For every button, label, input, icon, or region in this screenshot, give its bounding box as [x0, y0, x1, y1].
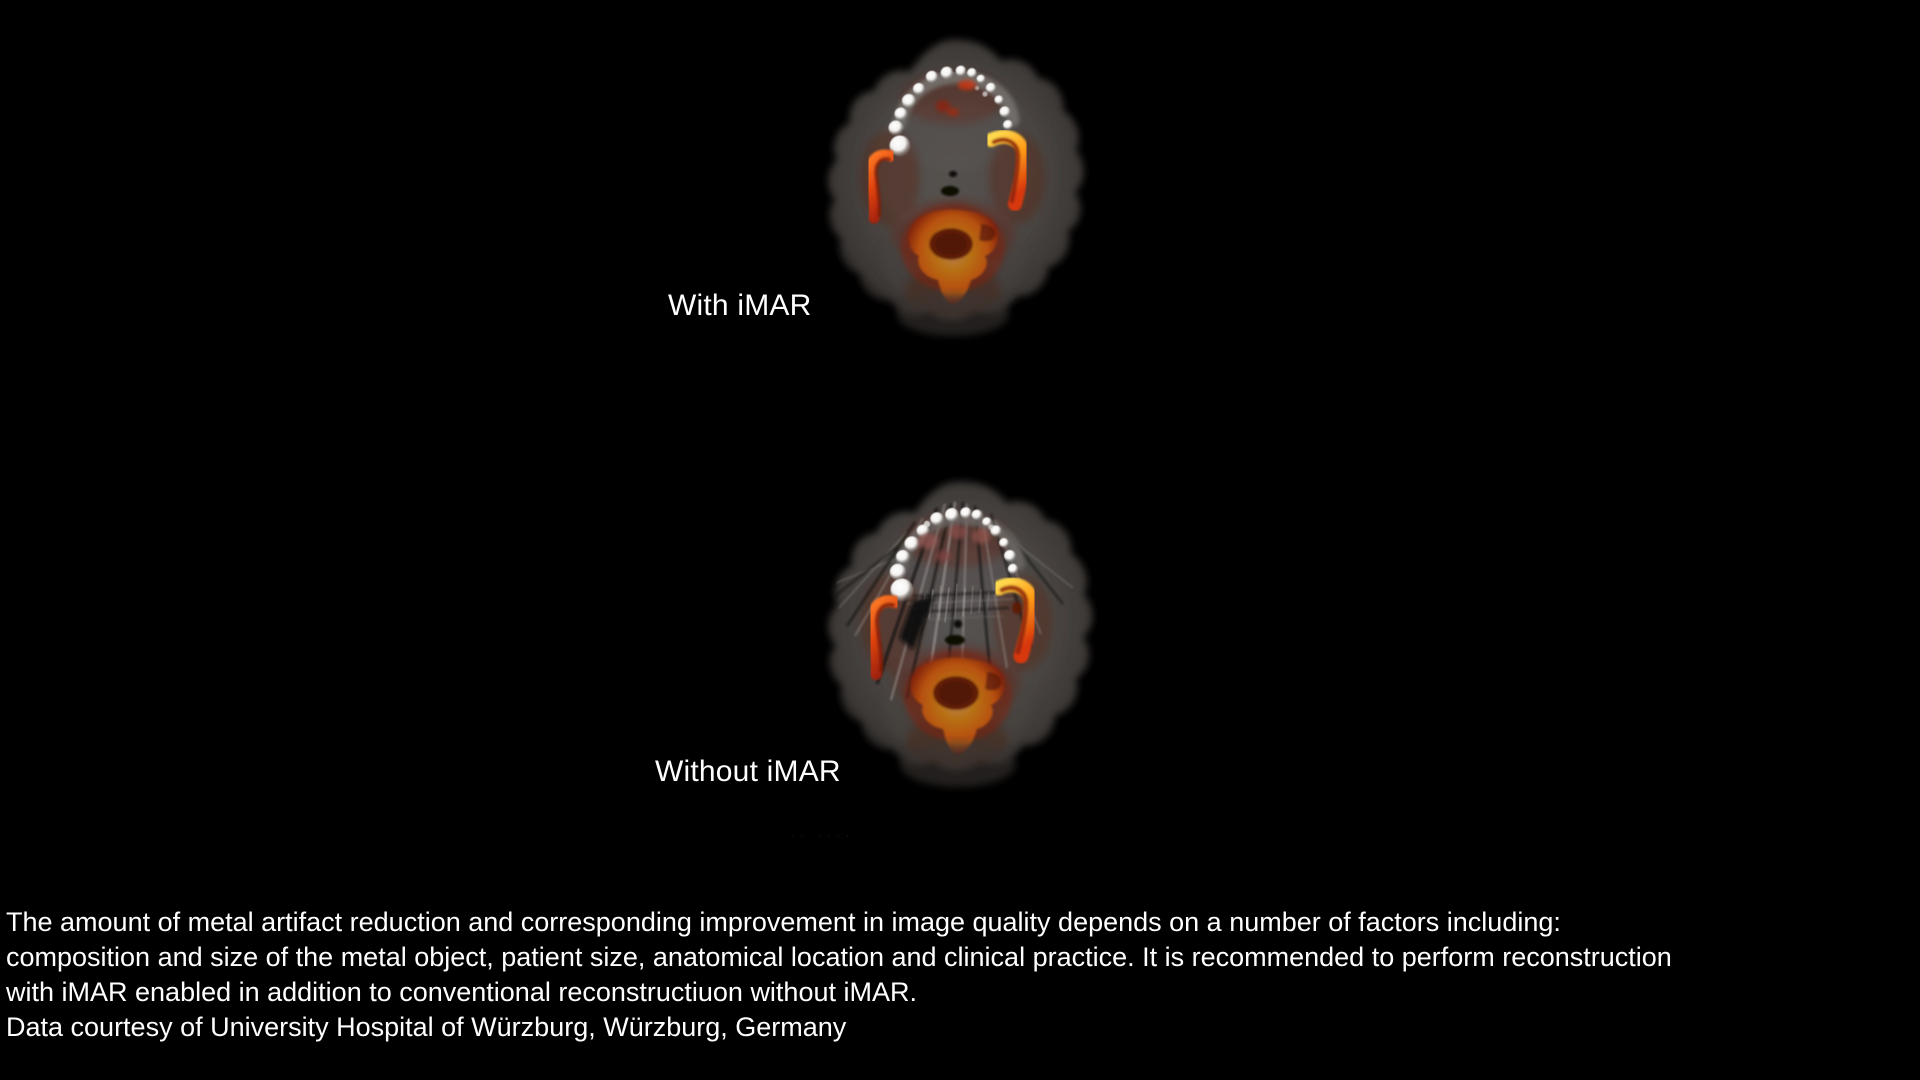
caption-line-2: composition and size of the metal object… [6, 940, 1906, 975]
caption-block: The amount of metal artifact reduction a… [6, 905, 1906, 1045]
scan-label-without-imar: Without iMAR [655, 757, 841, 787]
caption-line-1: The amount of metal artifact reduction a… [6, 905, 1906, 940]
scan-label-with-imar: With iMAR [668, 291, 811, 321]
faint-overlay-text: ·· ···· [790, 828, 970, 843]
scan-image-without-imar [795, 468, 1115, 818]
slide-root: With iMAR [0, 0, 1920, 1080]
caption-line-3: with iMAR enabled in addition to convent… [6, 975, 1906, 1010]
caption-line-4: Data courtesy of University Hospital of … [6, 1010, 1906, 1045]
scan-image-with-imar [795, 28, 1105, 363]
